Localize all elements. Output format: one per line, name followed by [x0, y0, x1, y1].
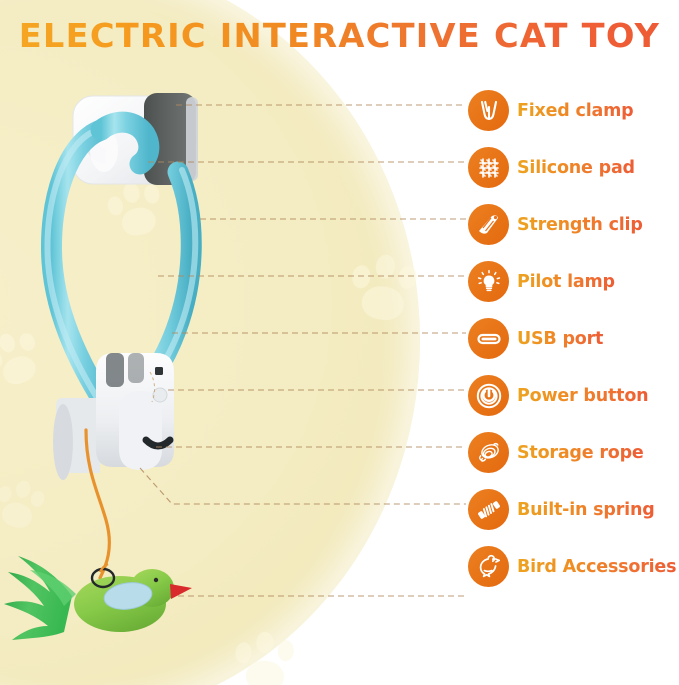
usb-port-icon [468, 318, 509, 359]
clamp-icon [468, 90, 509, 131]
motor-housing [53, 353, 174, 480]
feature-item-power-button[interactable]: Power button [468, 367, 679, 424]
infographic-canvas: ELECTRIC INTERACTIVE CAT TOY [0, 0, 679, 685]
feature-item-storage-rope[interactable]: Storage rope [468, 424, 679, 481]
feature-label: USB port [517, 329, 603, 349]
feature-label: Silicone pad [517, 158, 635, 178]
feature-item-fixed-clamp[interactable]: Fixed clamp [468, 82, 679, 139]
power-icon [468, 375, 509, 416]
feature-item-strength-clip[interactable]: Strength clip [468, 196, 679, 253]
feature-item-usb-port[interactable]: USB port [468, 310, 679, 367]
plush-bird-toy [4, 556, 192, 640]
bird-beak [170, 584, 192, 599]
page-title-container: ELECTRIC INTERACTIVE CAT TOY [0, 16, 679, 55]
bird-icon [468, 546, 509, 587]
feature-label: Strength clip [517, 215, 643, 235]
page-title: ELECTRIC INTERACTIVE CAT TOY [19, 16, 660, 55]
feature-label: Storage rope [517, 443, 644, 463]
bird-eye [154, 578, 158, 582]
feature-label: Built-in spring [517, 500, 655, 520]
power-button-part [153, 388, 167, 402]
spring-icon [468, 489, 509, 530]
clip-icon [468, 204, 509, 245]
feature-label: Pilot lamp [517, 272, 615, 292]
feature-item-built-in-spring[interactable]: Built-in spring [468, 481, 679, 538]
coiled-rope-icon [468, 432, 509, 473]
feature-item-silicone-pad[interactable]: Silicone pad [468, 139, 679, 196]
feature-list: Fixed clamp Silicone pad [468, 82, 679, 595]
lightbulb-icon [468, 261, 509, 302]
feature-item-bird-accessories[interactable]: Bird Accessories [468, 538, 679, 595]
feature-label: Bird Accessories [517, 557, 676, 577]
pilot-lamp-part [155, 367, 163, 375]
feature-label: Power button [517, 386, 648, 406]
feature-item-pilot-lamp[interactable]: Pilot lamp [468, 253, 679, 310]
mesh-pad-icon [468, 147, 509, 188]
feature-label: Fixed clamp [517, 101, 633, 121]
